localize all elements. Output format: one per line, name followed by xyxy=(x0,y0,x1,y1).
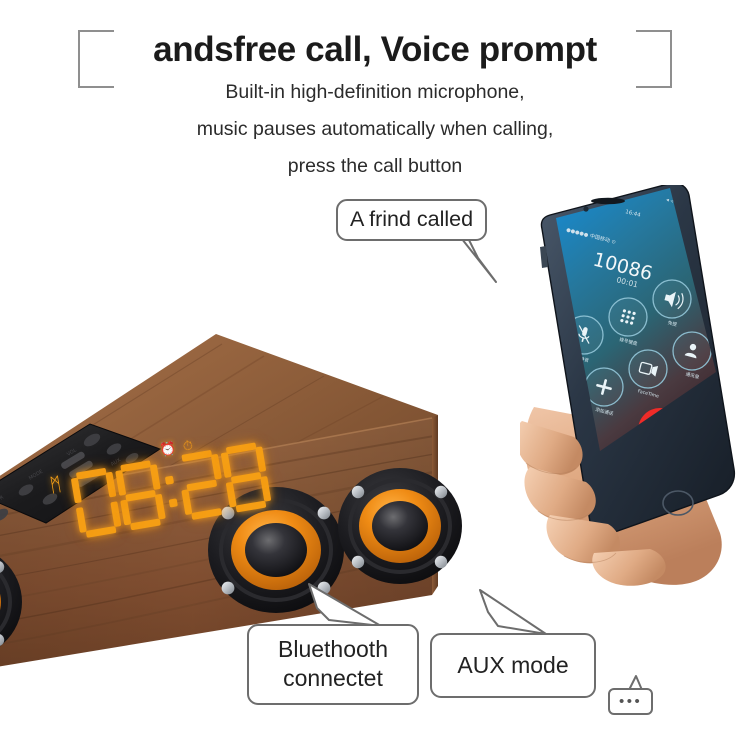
callout-bluetooth-line2: connectet xyxy=(257,664,409,693)
phone-in-hand: ●●●●● 中国移动 ⊙ 16:44 ◂ ◃ 10086 00:01 xyxy=(520,185,750,605)
speaker-body-illustration: PWR MODE VOL AUX xyxy=(0,268,584,668)
earpiece xyxy=(591,198,625,204)
bracket-right-icon xyxy=(636,30,672,88)
call-button-contacts xyxy=(673,332,711,370)
driver-screw xyxy=(222,507,235,520)
driver-screw xyxy=(352,556,364,568)
clock-icon: ⏱ xyxy=(182,439,194,454)
callout-aux-mode: AUX mode xyxy=(430,633,596,698)
driver-screw xyxy=(352,486,364,498)
callout-typing-indicator: ••• xyxy=(608,688,653,715)
phone-illustration: ●●●●● 中国移动 ⊙ 16:44 ◂ ◃ 10086 00:01 xyxy=(520,185,750,605)
callout-bluetooth-connected: Bluethooth connectet xyxy=(247,624,419,705)
callout-bluetooth-line1: Bluethooth xyxy=(257,635,409,664)
alarm-icon: ⏰ xyxy=(159,442,177,458)
speaker-driver xyxy=(208,487,344,613)
subtitle-line-3: press the call button xyxy=(0,153,750,181)
driver-screw xyxy=(222,582,235,595)
bracket-left-icon xyxy=(78,30,114,88)
driver-screw xyxy=(318,582,331,595)
header-section: andsfree call, Voice prompt Built-in hig… xyxy=(0,18,750,180)
call-button-facetime xyxy=(629,350,667,388)
marketing-image-canvas: andsfree call, Voice prompt Built-in hig… xyxy=(0,0,750,750)
subtitle-line-2: music pauses automatically when calling, xyxy=(0,116,750,144)
driver-screw xyxy=(435,486,447,498)
wooden-speaker-product: PWR MODE VOL AUX xyxy=(0,268,584,668)
driver-screw xyxy=(318,507,331,520)
speaker-driver xyxy=(338,468,462,584)
callout-friend-called: A frind called xyxy=(336,199,487,241)
front-camera-icon xyxy=(583,206,588,211)
driver-screw xyxy=(435,556,447,568)
